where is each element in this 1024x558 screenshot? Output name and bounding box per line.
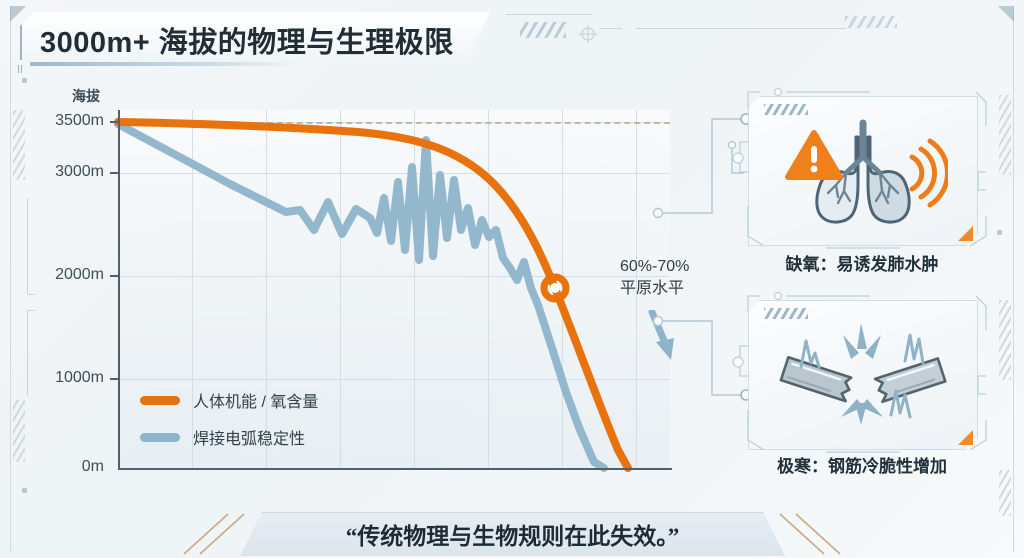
y-tick-label-0: 0m bbox=[14, 458, 104, 476]
title-underline-bar bbox=[30, 62, 300, 66]
decor-dot-left-bottom bbox=[22, 488, 27, 493]
y-tick-mark-2000 bbox=[110, 275, 118, 277]
crosshair-target-icon bbox=[578, 24, 598, 44]
decor-line-top-dash bbox=[600, 28, 622, 29]
y-tick-label-3500: 3500m bbox=[14, 112, 104, 130]
connector-node-upper bbox=[654, 209, 663, 218]
quote-wing-right bbox=[778, 512, 848, 556]
lungs-warning-icon bbox=[748, 96, 978, 246]
y-tick-label-1000: 1000m bbox=[14, 369, 104, 387]
footer-quote-banner: “传统物理与生物规则在此失效。” bbox=[240, 512, 785, 556]
broken-steel-bar-icon bbox=[748, 300, 978, 450]
panel-hypoxia-caption: 缺氧：易诱发肺水肿 bbox=[722, 250, 1002, 275]
x-axis-line bbox=[118, 468, 672, 470]
panel-hypoxia-corner-accent bbox=[958, 226, 973, 241]
frame-border-left bbox=[10, 6, 11, 552]
y-axis-line bbox=[118, 110, 120, 470]
panel-hypoxia[interactable] bbox=[748, 96, 978, 246]
altitude-chart: 海拔 3500m 3000m 2000m 1000m 0m bbox=[60, 88, 670, 488]
y-axis-title: 海拔 bbox=[72, 86, 100, 106]
quote-wing-left bbox=[176, 512, 246, 556]
hatch-stripes-top-left bbox=[520, 22, 566, 38]
page-title: 3000m+ 海拔的物理与生理极限 bbox=[40, 19, 454, 61]
hatch-stripes-left-lower bbox=[13, 400, 25, 462]
legend-item-oxygen: 人体机能 / 氧含量 bbox=[140, 388, 318, 412]
panel-cold-corner-accent bbox=[958, 430, 973, 445]
chart-legend: 人体机能 / 氧含量 焊接电弧稳定性 bbox=[140, 388, 318, 462]
title-banner: 3000m+ 海拔的物理与生理极限 bbox=[20, 12, 490, 60]
footer-quote-text: “传统物理与生物规则在此失效。” bbox=[240, 512, 785, 556]
panel-cold-caption: 极寒：钢筋冷脆性增加 bbox=[722, 452, 1002, 477]
legend-label-oxygen: 人体机能 / 氧含量 bbox=[193, 388, 318, 412]
legend-swatch-oxygen bbox=[140, 396, 180, 405]
y-tick-label-2000: 2000m bbox=[14, 266, 104, 284]
panel-cold-brittleness[interactable] bbox=[748, 300, 978, 450]
y-tick-mark-3000 bbox=[110, 172, 118, 174]
decor-bracket-left-bottom bbox=[27, 310, 35, 311]
y-tick-mark-3500 bbox=[110, 121, 118, 123]
legend-swatch-welding-arc bbox=[140, 433, 180, 442]
y-tick-label-3000: 3000m bbox=[14, 163, 104, 181]
decor-bracket-left-top bbox=[27, 294, 35, 295]
hatch-stripes-right-mid bbox=[999, 300, 1011, 380]
connector-node-lower bbox=[654, 317, 663, 326]
decor-dot-left-top bbox=[22, 78, 27, 83]
decor-line-top-long bbox=[636, 28, 846, 29]
legend-label-welding-arc: 焊接电弧稳定性 bbox=[193, 425, 305, 449]
hatch-stripes-top-right bbox=[845, 16, 897, 28]
chart-marker-center bbox=[550, 283, 560, 293]
frame-border-right bbox=[1013, 6, 1014, 552]
title-tick-marks bbox=[18, 60, 27, 68]
legend-item-welding-arc: 焊接电弧稳定性 bbox=[140, 425, 318, 449]
decor-line-top-short bbox=[506, 14, 592, 15]
corner-triangle-top-right bbox=[998, 6, 1014, 22]
y-tick-mark-1000 bbox=[110, 378, 118, 380]
hatch-stripes-right-upper bbox=[999, 95, 1011, 175]
